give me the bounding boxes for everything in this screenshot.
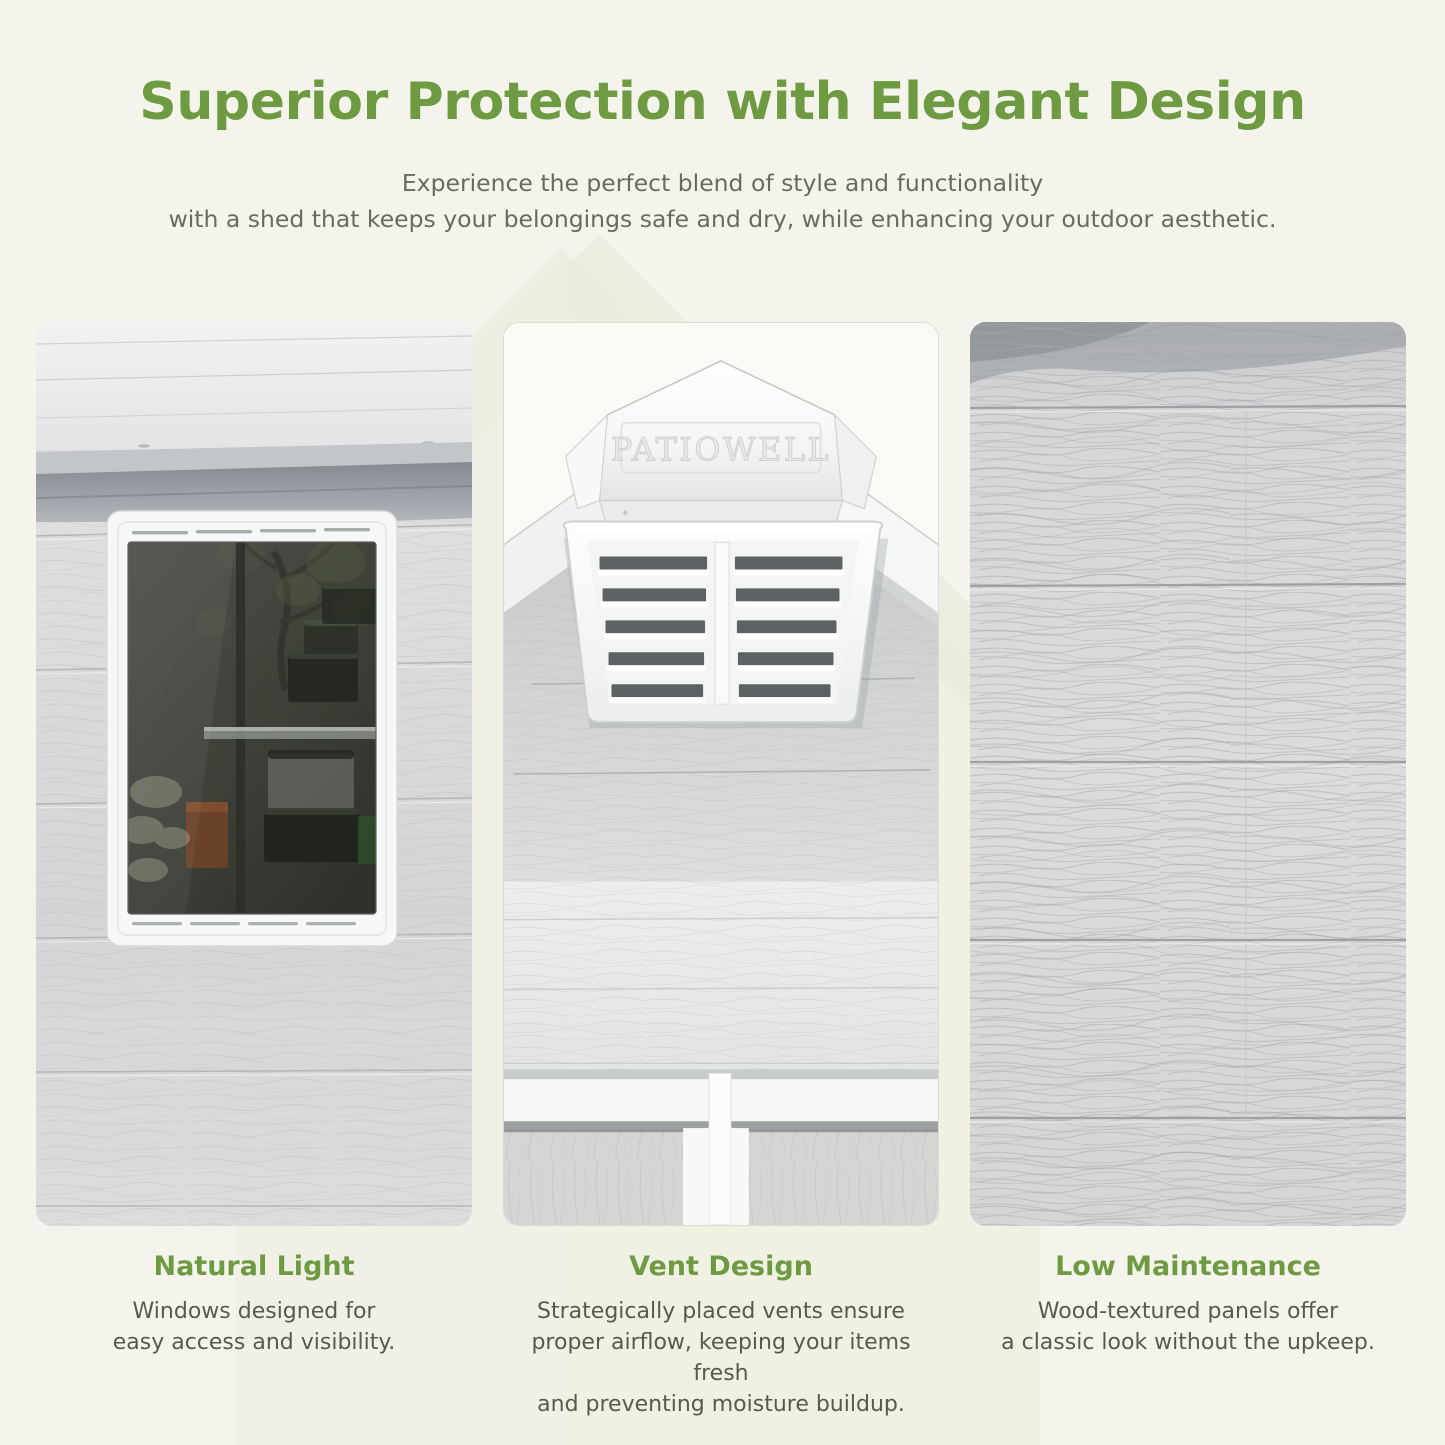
subtitle-line-1: Experience the perfect blend of style an… xyxy=(0,166,1445,202)
caption-body-vent-design: Strategically placed vents ensure proper… xyxy=(503,1282,939,1421)
caption-line-2: a classic look without the upkeep. xyxy=(970,1327,1406,1358)
caption-vent-design: Vent Design Strategically placed vents e… xyxy=(503,1252,939,1421)
wood-textured-panel-photo xyxy=(970,322,1406,1226)
subtitle-line-2: with a shed that keeps your belongings s… xyxy=(0,202,1445,238)
shed-vent-photo: PATIOWELL xyxy=(504,323,938,1225)
caption-title-natural-light: Natural Light xyxy=(36,1252,472,1282)
caption-title-vent-design: Vent Design xyxy=(503,1252,939,1282)
page-subtitle: Experience the perfect blend of style an… xyxy=(0,128,1445,237)
shed-window-photo xyxy=(36,322,472,1226)
feature-image-natural-light xyxy=(36,322,472,1226)
header: Superior Protection with Elegant Design … xyxy=(0,0,1445,237)
caption-line-2: easy access and visibility. xyxy=(36,1327,472,1358)
caption-line-1: Wood-textured panels offer xyxy=(970,1296,1406,1327)
caption-line-3: and preventing moisture buildup. xyxy=(503,1389,939,1420)
caption-body-low-maintenance: Wood-textured panels offer a classic loo… xyxy=(970,1282,1406,1358)
page-title: Superior Protection with Elegant Design xyxy=(0,0,1445,128)
caption-body-natural-light: Windows designed for easy access and vis… xyxy=(36,1282,472,1358)
caption-line-2: proper airflow, keeping your items fresh xyxy=(503,1327,939,1389)
louver-vent xyxy=(564,522,889,729)
feature-image-low-maintenance xyxy=(970,322,1406,1226)
caption-title-low-maintenance: Low Maintenance xyxy=(970,1252,1406,1282)
brand-emboss-text: PATIOWELL xyxy=(611,431,831,469)
caption-low-maintenance: Low Maintenance Wood-textured panels off… xyxy=(970,1252,1406,1358)
feature-image-vent-design: PATIOWELL xyxy=(503,322,939,1226)
caption-line-1: Strategically placed vents ensure xyxy=(503,1296,939,1327)
caption-natural-light: Natural Light Windows designed for easy … xyxy=(36,1252,472,1358)
caption-line-1: Windows designed for xyxy=(36,1296,472,1327)
